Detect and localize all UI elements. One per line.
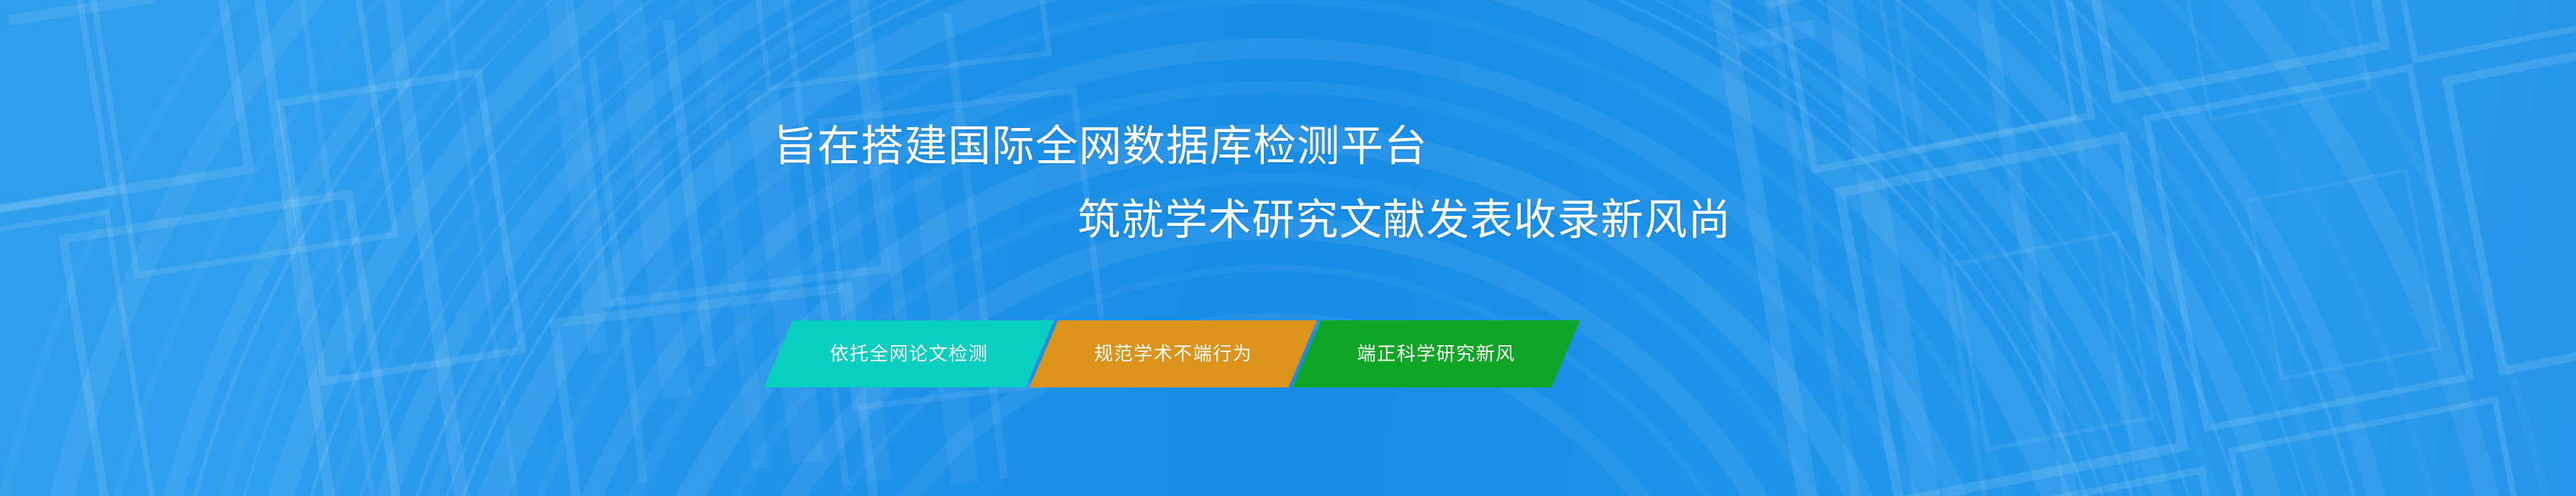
feature-tag-2-label: 规范学术不端行为 [1094, 345, 1252, 363]
feature-tag-band: 依托全网论文检测 规范学术不端行为 端正科学研究新风 [778, 320, 1566, 387]
feature-tag-3[interactable]: 端正科学研究新风 [1293, 320, 1580, 387]
banner-content: 旨在搭建国际全网数据库检测平台 筑就学术研究文献发表收录新风尚 依托全网论文检测… [0, 0, 2576, 496]
feature-tag-1[interactable]: 依托全网论文检测 [764, 320, 1054, 387]
feature-tag-3-label: 端正科学研究新风 [1357, 345, 1515, 363]
promo-banner: 旨在搭建国际全网数据库检测平台 筑就学术研究文献发表收录新风尚 依托全网论文检测… [0, 0, 2576, 496]
feature-tag-1-label: 依托全网论文检测 [830, 345, 988, 363]
feature-tag-2[interactable]: 规范学术不端行为 [1030, 320, 1317, 387]
headline-line-1: 旨在搭建国际全网数据库检测平台 [773, 125, 1428, 168]
headline-line-2: 筑就学术研究文献发表收录新风尚 [1077, 198, 1731, 241]
